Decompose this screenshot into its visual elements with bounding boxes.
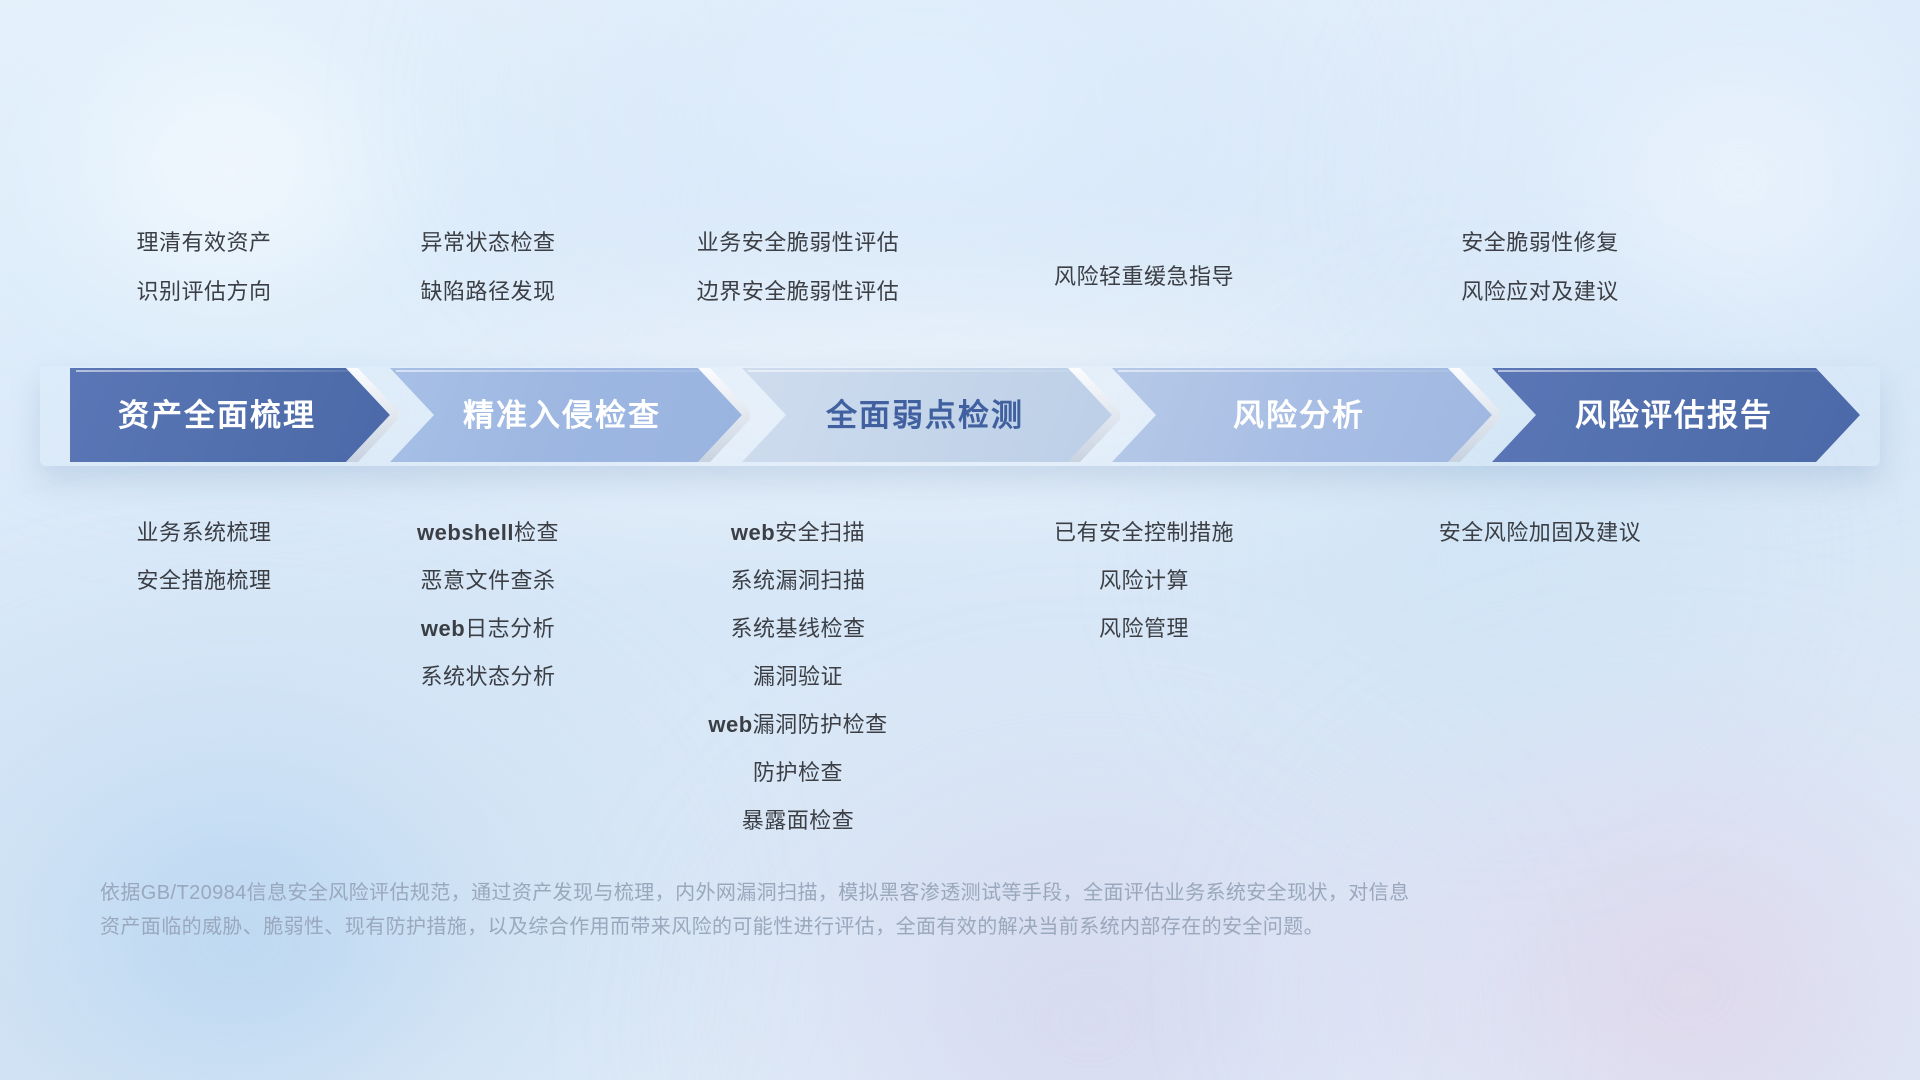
activity-item: 漏洞验证 — [638, 666, 958, 688]
chevron-stage-risk-analysis[interactable]: 风险分析 — [1112, 368, 1492, 462]
activity-item: 防护检查 — [638, 762, 958, 784]
chevron-stage-intrusion-check[interactable]: 精准入侵检查 — [390, 368, 742, 462]
outcome-item: 异常状态检查 — [338, 232, 638, 254]
outcomes-column-risk-analysis: 风险轻重缓急指导 — [958, 232, 1330, 315]
activity-item: webshell检查 — [338, 522, 638, 544]
chevron-stage-weakness-detection[interactable]: 全面弱点检测 — [742, 368, 1112, 462]
activity-item: 风险管理 — [958, 618, 1330, 640]
activity-item: 业务系统梳理 — [70, 522, 338, 544]
chevron-stage-asset-inventory[interactable]: 资产全面梳理 — [70, 368, 390, 462]
activity-item: 安全措施梳理 — [70, 570, 338, 592]
chevron-label: 精准入侵检查 — [390, 400, 742, 431]
activities-row: 业务系统梳理 安全措施梳理 webshell检查 恶意文件查杀 web日志分析 … — [70, 522, 1850, 858]
activity-item: 已有安全控制措施 — [958, 522, 1330, 544]
chevron-stage-risk-report[interactable]: 风险评估报告 — [1492, 368, 1860, 462]
outcomes-column-asset-inventory: 理清有效资产 识别评估方向 — [70, 232, 338, 330]
chevron-label: 资产全面梳理 — [70, 400, 390, 431]
outcome-item: 风险应对及建议 — [1330, 281, 1750, 303]
outcome-item: 缺陷路径发现 — [338, 281, 638, 303]
chevron-label: 全面弱点检测 — [742, 400, 1112, 431]
activities-column-weakness-detection: web安全扫描 系统漏洞扫描 系统基线检查 漏洞验证 web漏洞防护检查 防护检… — [638, 522, 958, 858]
activity-item: 风险计算 — [958, 570, 1330, 592]
activities-column-asset-inventory: 业务系统梳理 安全措施梳理 — [70, 522, 338, 618]
outcomes-column-risk-report: 安全脆弱性修复 风险应对及建议 — [1330, 232, 1750, 330]
footer-line: 资产面临的威胁、脆弱性、现有防护措施，以及综合作用而带来风险的可能性进行评估，全… — [100, 910, 1660, 944]
activity-item: web漏洞防护检查 — [638, 714, 958, 736]
chevron-label: 风险评估报告 — [1492, 400, 1860, 431]
activities-column-intrusion-check: webshell检查 恶意文件查杀 web日志分析 系统状态分析 — [338, 522, 638, 714]
chevron-label: 风险分析 — [1112, 400, 1492, 431]
activities-column-risk-analysis: 已有安全控制措施 风险计算 风险管理 — [958, 522, 1330, 666]
activity-item: 安全风险加固及建议 — [1330, 522, 1750, 544]
outcome-item: 边界安全脆弱性评估 — [638, 281, 958, 303]
outcome-item: 识别评估方向 — [70, 281, 338, 303]
outcome-item: 业务安全脆弱性评估 — [638, 232, 958, 254]
outcome-item: 风险轻重缓急指导 — [958, 266, 1330, 288]
activities-column-risk-report: 安全风险加固及建议 — [1330, 522, 1750, 570]
activity-item: 暴露面检查 — [638, 810, 958, 832]
outcomes-column-weakness-detection: 业务安全脆弱性评估 边界安全脆弱性评估 — [638, 232, 958, 330]
activity-item: 恶意文件查杀 — [338, 570, 638, 592]
activity-item: web日志分析 — [338, 618, 638, 640]
activity-item: 系统漏洞扫描 — [638, 570, 958, 592]
footer-description: 依据GB/T20984信息安全风险评估规范，通过资产发现与梳理，内外网漏洞扫描，… — [100, 876, 1660, 944]
outcome-item: 安全脆弱性修复 — [1330, 232, 1750, 254]
activity-item: 系统状态分析 — [338, 666, 638, 688]
outcome-item: 理清有效资产 — [70, 232, 338, 254]
activity-item: web安全扫描 — [638, 522, 958, 544]
footer-line: 依据GB/T20984信息安全风险评估规范，通过资产发现与梳理，内外网漏洞扫描，… — [100, 876, 1660, 910]
slide-canvas: 理清有效资产 识别评估方向 异常状态检查 缺陷路径发现 业务安全脆弱性评估 边界… — [0, 0, 1920, 1080]
outcomes-row: 理清有效资产 识别评估方向 异常状态检查 缺陷路径发现 业务安全脆弱性评估 边界… — [70, 232, 1850, 330]
process-chevron-band: 资产全面梳理 精准入侵检查 全面弱点检测 风险分析 — [70, 368, 1860, 462]
outcomes-column-intrusion-check: 异常状态检查 缺陷路径发现 — [338, 232, 638, 330]
activity-item: 系统基线检查 — [638, 618, 958, 640]
